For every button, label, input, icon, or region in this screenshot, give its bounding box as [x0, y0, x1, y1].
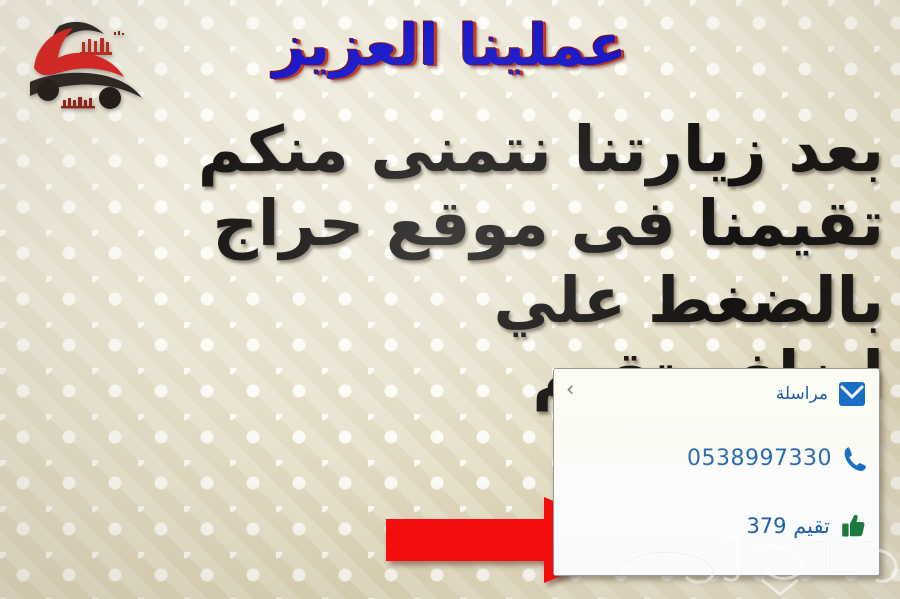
- contact-card[interactable]: ‹ مراسلة 0538997330: [553, 368, 880, 576]
- poster-body: بعد زيارتنا نتمنى منكم تقيمنا فى موقع حر…: [10, 118, 884, 407]
- card-row-message-label: مراسلة: [776, 386, 828, 403]
- phone-icon: [841, 445, 867, 473]
- card-row-phone[interactable]: 0538997330: [687, 445, 867, 473]
- back-chevron-icon[interactable]: ‹: [566, 379, 574, 400]
- body-line-2: تقيمنا فى موقع حراج: [10, 192, 884, 256]
- card-row-rating[interactable]: تقيم 379: [746, 512, 867, 540]
- thumbs-up-icon: [839, 512, 867, 540]
- body-line-3: بالضغط علي: [10, 269, 884, 333]
- card-row-rating-label[interactable]: تقيم 379: [746, 516, 830, 537]
- envelope-icon: [837, 379, 867, 409]
- body-line-1: بعد زيارتنا نتمنى منكم: [10, 118, 884, 182]
- poster-title: عملينا العزيز: [0, 18, 900, 75]
- promo-poster: عملينا العزيز بعد زيارتنا نتمنى منكم تقي…: [0, 0, 900, 599]
- card-row-phone-number[interactable]: 0538997330: [687, 448, 832, 470]
- card-row-message[interactable]: مراسلة: [776, 379, 867, 409]
